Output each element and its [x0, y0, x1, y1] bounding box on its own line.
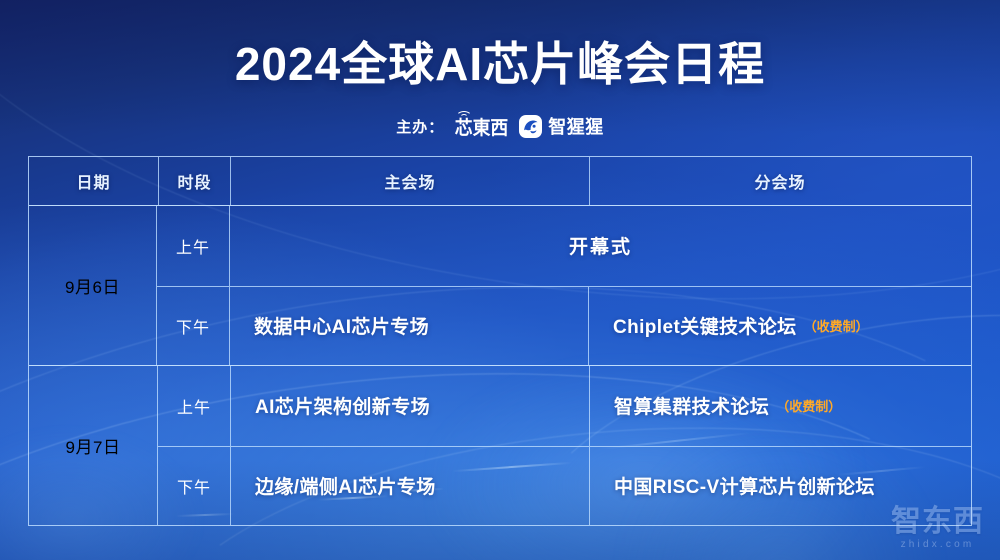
day-group-1: 9月6日 上午 开幕式 下午 数: [29, 205, 971, 365]
organizer-line: 主办： 芯東西 智猩猩: [0, 113, 1000, 139]
session-cell-sub-venue: Chiplet关键技术论坛 （收费制）: [588, 287, 969, 366]
date-cell-day1: 9月6日: [29, 206, 157, 365]
date-cell-day2: 9月7日: [29, 366, 158, 525]
xindongxi-logo: 芯東西: [453, 114, 510, 138]
time-cell: 上午: [157, 206, 229, 286]
session-cell-sub-venue: 中国RISC-V计算芯片创新论坛: [589, 447, 970, 526]
zhixingxing-logo-text: 智猩猩: [548, 113, 604, 139]
session-cell-main-venue: 数据中心AI芯片专场: [229, 287, 588, 366]
time-cell: 上午: [158, 366, 230, 446]
session-cell-spanning: 开幕式: [229, 206, 971, 286]
time-cell: 下午: [158, 447, 230, 526]
schedule-poster: 2024全球AI芯片峰会日程 主办： 芯東西 智猩猩 日期 时: [0, 0, 1000, 560]
column-header-date: 日期: [29, 157, 158, 205]
day-group-2: 9月7日 上午 AI芯片架构创新专场 智算集群技术论坛 （收费制）: [29, 365, 971, 525]
time-cell: 下午: [157, 287, 229, 366]
session-cell-main-venue: AI芯片架构创新专场: [230, 366, 589, 446]
page-title: 2024全球AI芯片峰会日程: [0, 28, 1000, 94]
organizer-label: 主办：: [396, 116, 444, 137]
column-header-time: 时段: [158, 157, 230, 205]
xindongxi-logo-text: 芯東西: [455, 118, 509, 138]
table-row: 下午 边缘/端侧AI芯片专场 中国RISC-V计算芯片创新论坛: [158, 446, 971, 526]
paid-note: （收费制）: [804, 316, 869, 335]
table-row: 下午 数据中心AI芯片专场 Chiplet关键技术论坛 （收费制）: [157, 286, 971, 366]
session-cell-sub-venue: 智算集群技术论坛 （收费制）: [589, 366, 970, 446]
session-cell-main-venue: 边缘/端侧AI芯片专场: [230, 447, 589, 526]
table-row: 上午 AI芯片架构创新专场 智算集群技术论坛 （收费制）: [158, 366, 971, 446]
schedule-table: 日期 时段 主会场 分会场 9月6日 上午: [28, 156, 972, 526]
paid-note: （收费制）: [776, 396, 841, 415]
table-row: 上午 开幕式: [157, 206, 971, 286]
zhixingxing-logo: 智猩猩: [519, 113, 604, 139]
watermark-url: zhidx.com: [901, 539, 975, 550]
column-header-main-venue: 主会场: [230, 157, 589, 205]
column-header-sub-venue: 分会场: [589, 157, 970, 205]
table-header-row: 日期 时段 主会场 分会场: [29, 157, 971, 205]
gorilla-icon: [519, 115, 542, 138]
